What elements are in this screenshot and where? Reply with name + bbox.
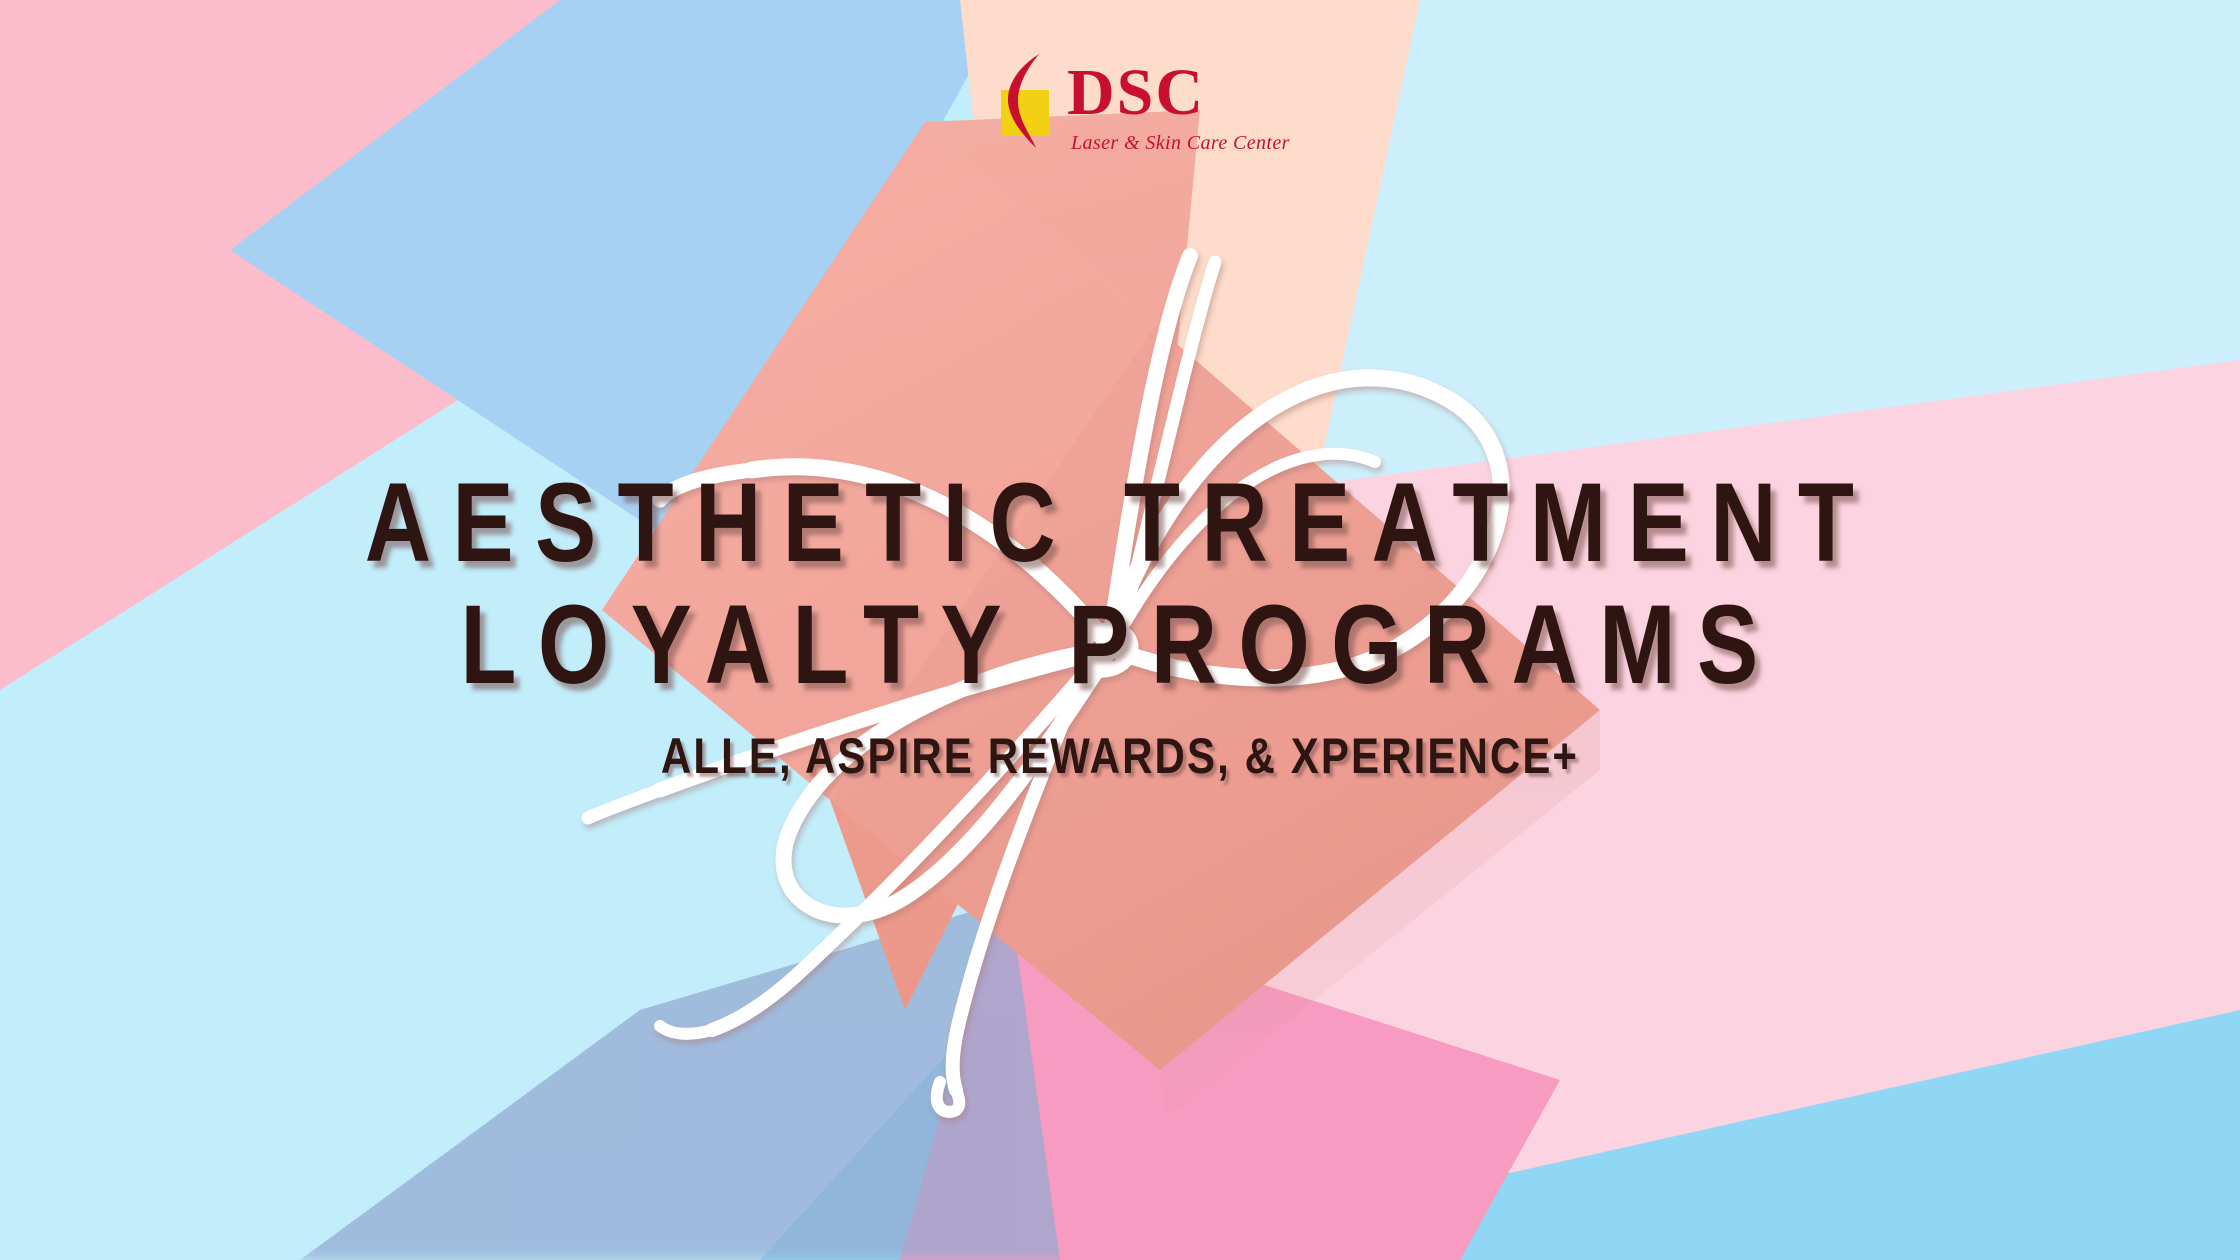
promotional-banner: DSC Laser & Skin Care Center AESTHETIC T… [0,0,2240,1260]
flame-swoosh-icon [995,52,1073,150]
logo-tagline: Laser & Skin Care Center [1071,132,1290,155]
headline-line-2: LOYALTY PROGRAMS [202,584,2039,706]
headline-block: AESTHETIC TREATMENT LOYALTY PROGRAMS ALL… [0,462,2240,784]
logo-wordmark: DSC [1067,60,1205,126]
headline-line-1: AESTHETIC TREATMENT [202,462,2039,584]
headline-subtitle: ALLE, ASPIRE REWARDS, & XPERIENCE+ [179,728,2061,784]
dsc-logo: DSC Laser & Skin Care Center [995,52,1255,182]
